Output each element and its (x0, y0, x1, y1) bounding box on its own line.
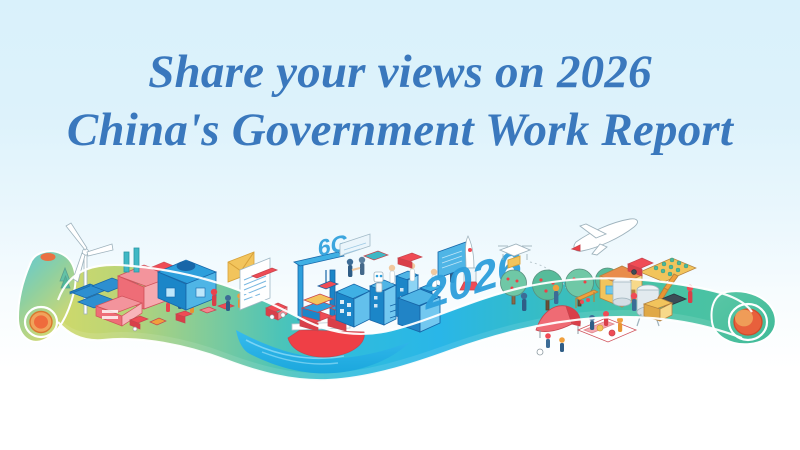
scroll-illustration: @ (0, 0, 800, 450)
right-scroll-roll (712, 291, 776, 344)
scene-port: 6G (288, 229, 370, 357)
business-handshake (347, 257, 365, 277)
poster-canvas: Share your views on 2026 China's Governm… (0, 0, 800, 450)
port-office-building (336, 284, 370, 327)
airplane-icon (572, 219, 637, 255)
ai-chip-label: AI (406, 384, 421, 406)
children-playing (537, 333, 565, 355)
illustration-svg: @ (0, 0, 800, 450)
